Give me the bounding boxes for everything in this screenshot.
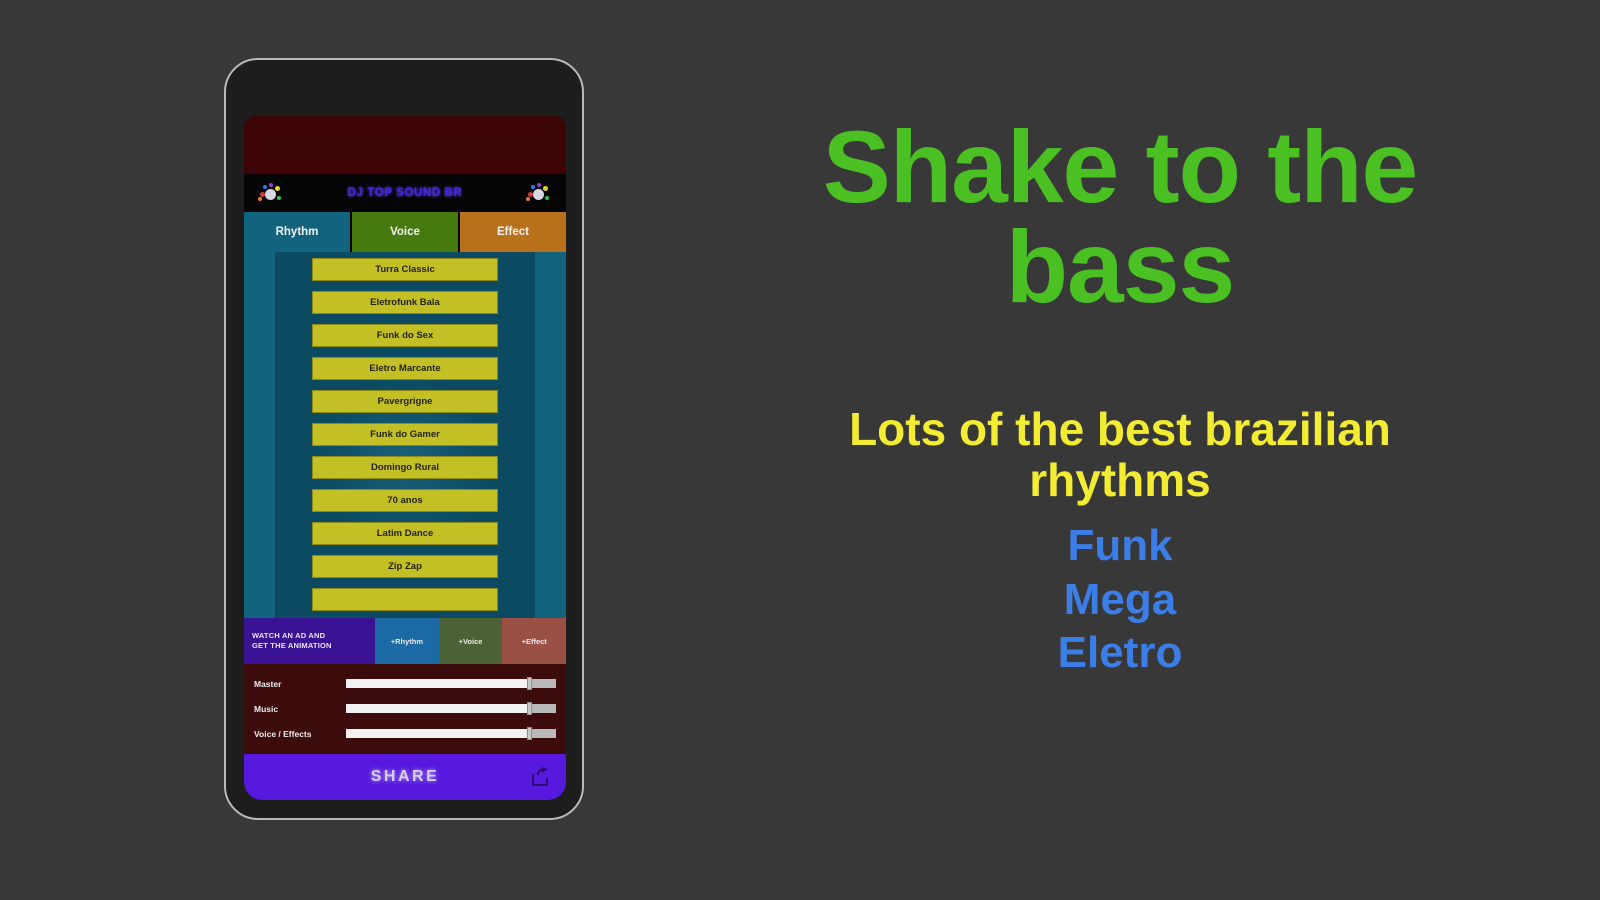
promo-text-block: Shake to the bass Lots of the best brazi… <box>700 0 1540 900</box>
rhythm-item[interactable]: Pavergrigne <box>312 390 498 413</box>
slider-master-knob[interactable] <box>527 677 532 690</box>
rhythm-item[interactable]: Domingo Rural <box>312 456 498 479</box>
rhythm-item-label: Turra Classic <box>375 264 435 275</box>
share-button[interactable]: SHARE <box>244 754 566 800</box>
rhythm-item-label: 70 anos <box>387 495 422 506</box>
promo-genre-list: Funk Mega Eletro <box>1058 519 1183 680</box>
tab-voice[interactable]: Voice <box>352 212 460 252</box>
rhythm-item-label: Domingo Rural <box>371 462 439 473</box>
promo-genre-eletro: Eletro <box>1058 626 1183 680</box>
slider-voice-effects[interactable] <box>346 729 556 738</box>
add-effect-label: +Effect <box>522 637 547 646</box>
promo-genre-funk: Funk <box>1058 519 1183 573</box>
promo-subtitle: Lots of the best brazilian rhythms <box>770 404 1470 505</box>
tab-rhythm[interactable]: Rhythm <box>244 212 352 252</box>
phone-mockup-frame: DJ TOP SOUND BR Rhythm Voice Effect Turr… <box>224 58 584 820</box>
rhythm-item[interactable]: Eletro Marcante <box>312 357 498 380</box>
tab-bar: Rhythm Voice Effect <box>244 212 566 252</box>
rhythm-list-panel: Turra Classic Eletrofunk Bala Funk do Se… <box>244 252 566 618</box>
promo-headline: Shake to the bass <box>740 118 1500 318</box>
rhythm-item-label: Pavergrigne <box>378 396 433 407</box>
slider-label-voice-effects: Voice / Effects <box>254 729 346 739</box>
slider-label-master: Master <box>254 679 346 689</box>
app-top-banner <box>244 116 566 174</box>
app-screen: DJ TOP SOUND BR Rhythm Voice Effect Turr… <box>244 116 566 800</box>
volume-sliders: Master Music Voice / Effects <box>244 664 566 754</box>
dj-turntable-icon-left <box>258 182 284 204</box>
rhythm-item-label: Eletro Marcante <box>369 363 440 374</box>
slider-music-knob[interactable] <box>527 702 532 715</box>
app-title-bar: DJ TOP SOUND BR <box>244 174 566 212</box>
slider-row-master: Master <box>254 671 556 696</box>
slider-voice-effects-knob[interactable] <box>527 727 532 740</box>
promo-genre-mega: Mega <box>1058 573 1183 627</box>
rhythm-item[interactable]: Funk do Gamer <box>312 423 498 446</box>
rhythm-list-scroll[interactable]: Turra Classic Eletrofunk Bala Funk do Se… <box>275 252 535 618</box>
dj-turntable-icon-right <box>526 182 552 204</box>
add-voice-label: +Voice <box>459 637 483 646</box>
tab-voice-label: Voice <box>390 226 420 238</box>
slider-label-music: Music <box>254 704 346 714</box>
slider-music-fill <box>346 704 531 713</box>
tab-effect[interactable]: Effect <box>460 212 566 252</box>
rhythm-item-label: Eletrofunk Bala <box>370 297 440 308</box>
add-rhythm-button[interactable]: +Rhythm <box>375 618 439 664</box>
rhythm-item[interactable]: 70 anos <box>312 489 498 512</box>
rhythm-item[interactable] <box>312 588 498 611</box>
share-button-label: SHARE <box>371 768 440 786</box>
slider-master-fill <box>346 679 531 688</box>
rhythm-item[interactable]: Turra Classic <box>312 258 498 281</box>
slider-master[interactable] <box>346 679 556 688</box>
rhythm-item[interactable]: Funk do Sex <box>312 324 498 347</box>
rhythm-item[interactable]: Zip Zap <box>312 555 498 578</box>
slider-row-music: Music <box>254 696 556 721</box>
rhythm-item-label: Latim Dance <box>377 528 434 539</box>
slider-row-voice-effects: Voice / Effects <box>254 721 556 746</box>
watch-ad-button[interactable]: WATCH AN AD AND GET THE ANIMATION <box>244 618 375 664</box>
watch-ad-line2: GET THE ANIMATION <box>252 641 375 651</box>
watch-ad-line1: WATCH AN AD AND <box>252 631 375 641</box>
slider-voice-effects-fill <box>346 729 531 738</box>
tab-rhythm-label: Rhythm <box>276 226 319 238</box>
share-arrow-icon <box>530 767 550 787</box>
rhythm-item[interactable]: Latim Dance <box>312 522 498 545</box>
app-title: DJ TOP SOUND BR <box>348 187 463 199</box>
add-voice-button[interactable]: +Voice <box>439 618 503 664</box>
rhythm-item-label: Funk do Sex <box>377 330 433 341</box>
add-effect-button[interactable]: +Effect <box>502 618 566 664</box>
add-rhythm-label: +Rhythm <box>391 637 423 646</box>
slider-music[interactable] <box>346 704 556 713</box>
rhythm-item[interactable]: Eletrofunk Bala <box>312 291 498 314</box>
tab-effect-label: Effect <box>497 226 529 238</box>
ad-bar: WATCH AN AD AND GET THE ANIMATION +Rhyth… <box>244 618 566 664</box>
rhythm-item-label: Funk do Gamer <box>370 429 440 440</box>
rhythm-item-label: Zip Zap <box>388 561 422 572</box>
